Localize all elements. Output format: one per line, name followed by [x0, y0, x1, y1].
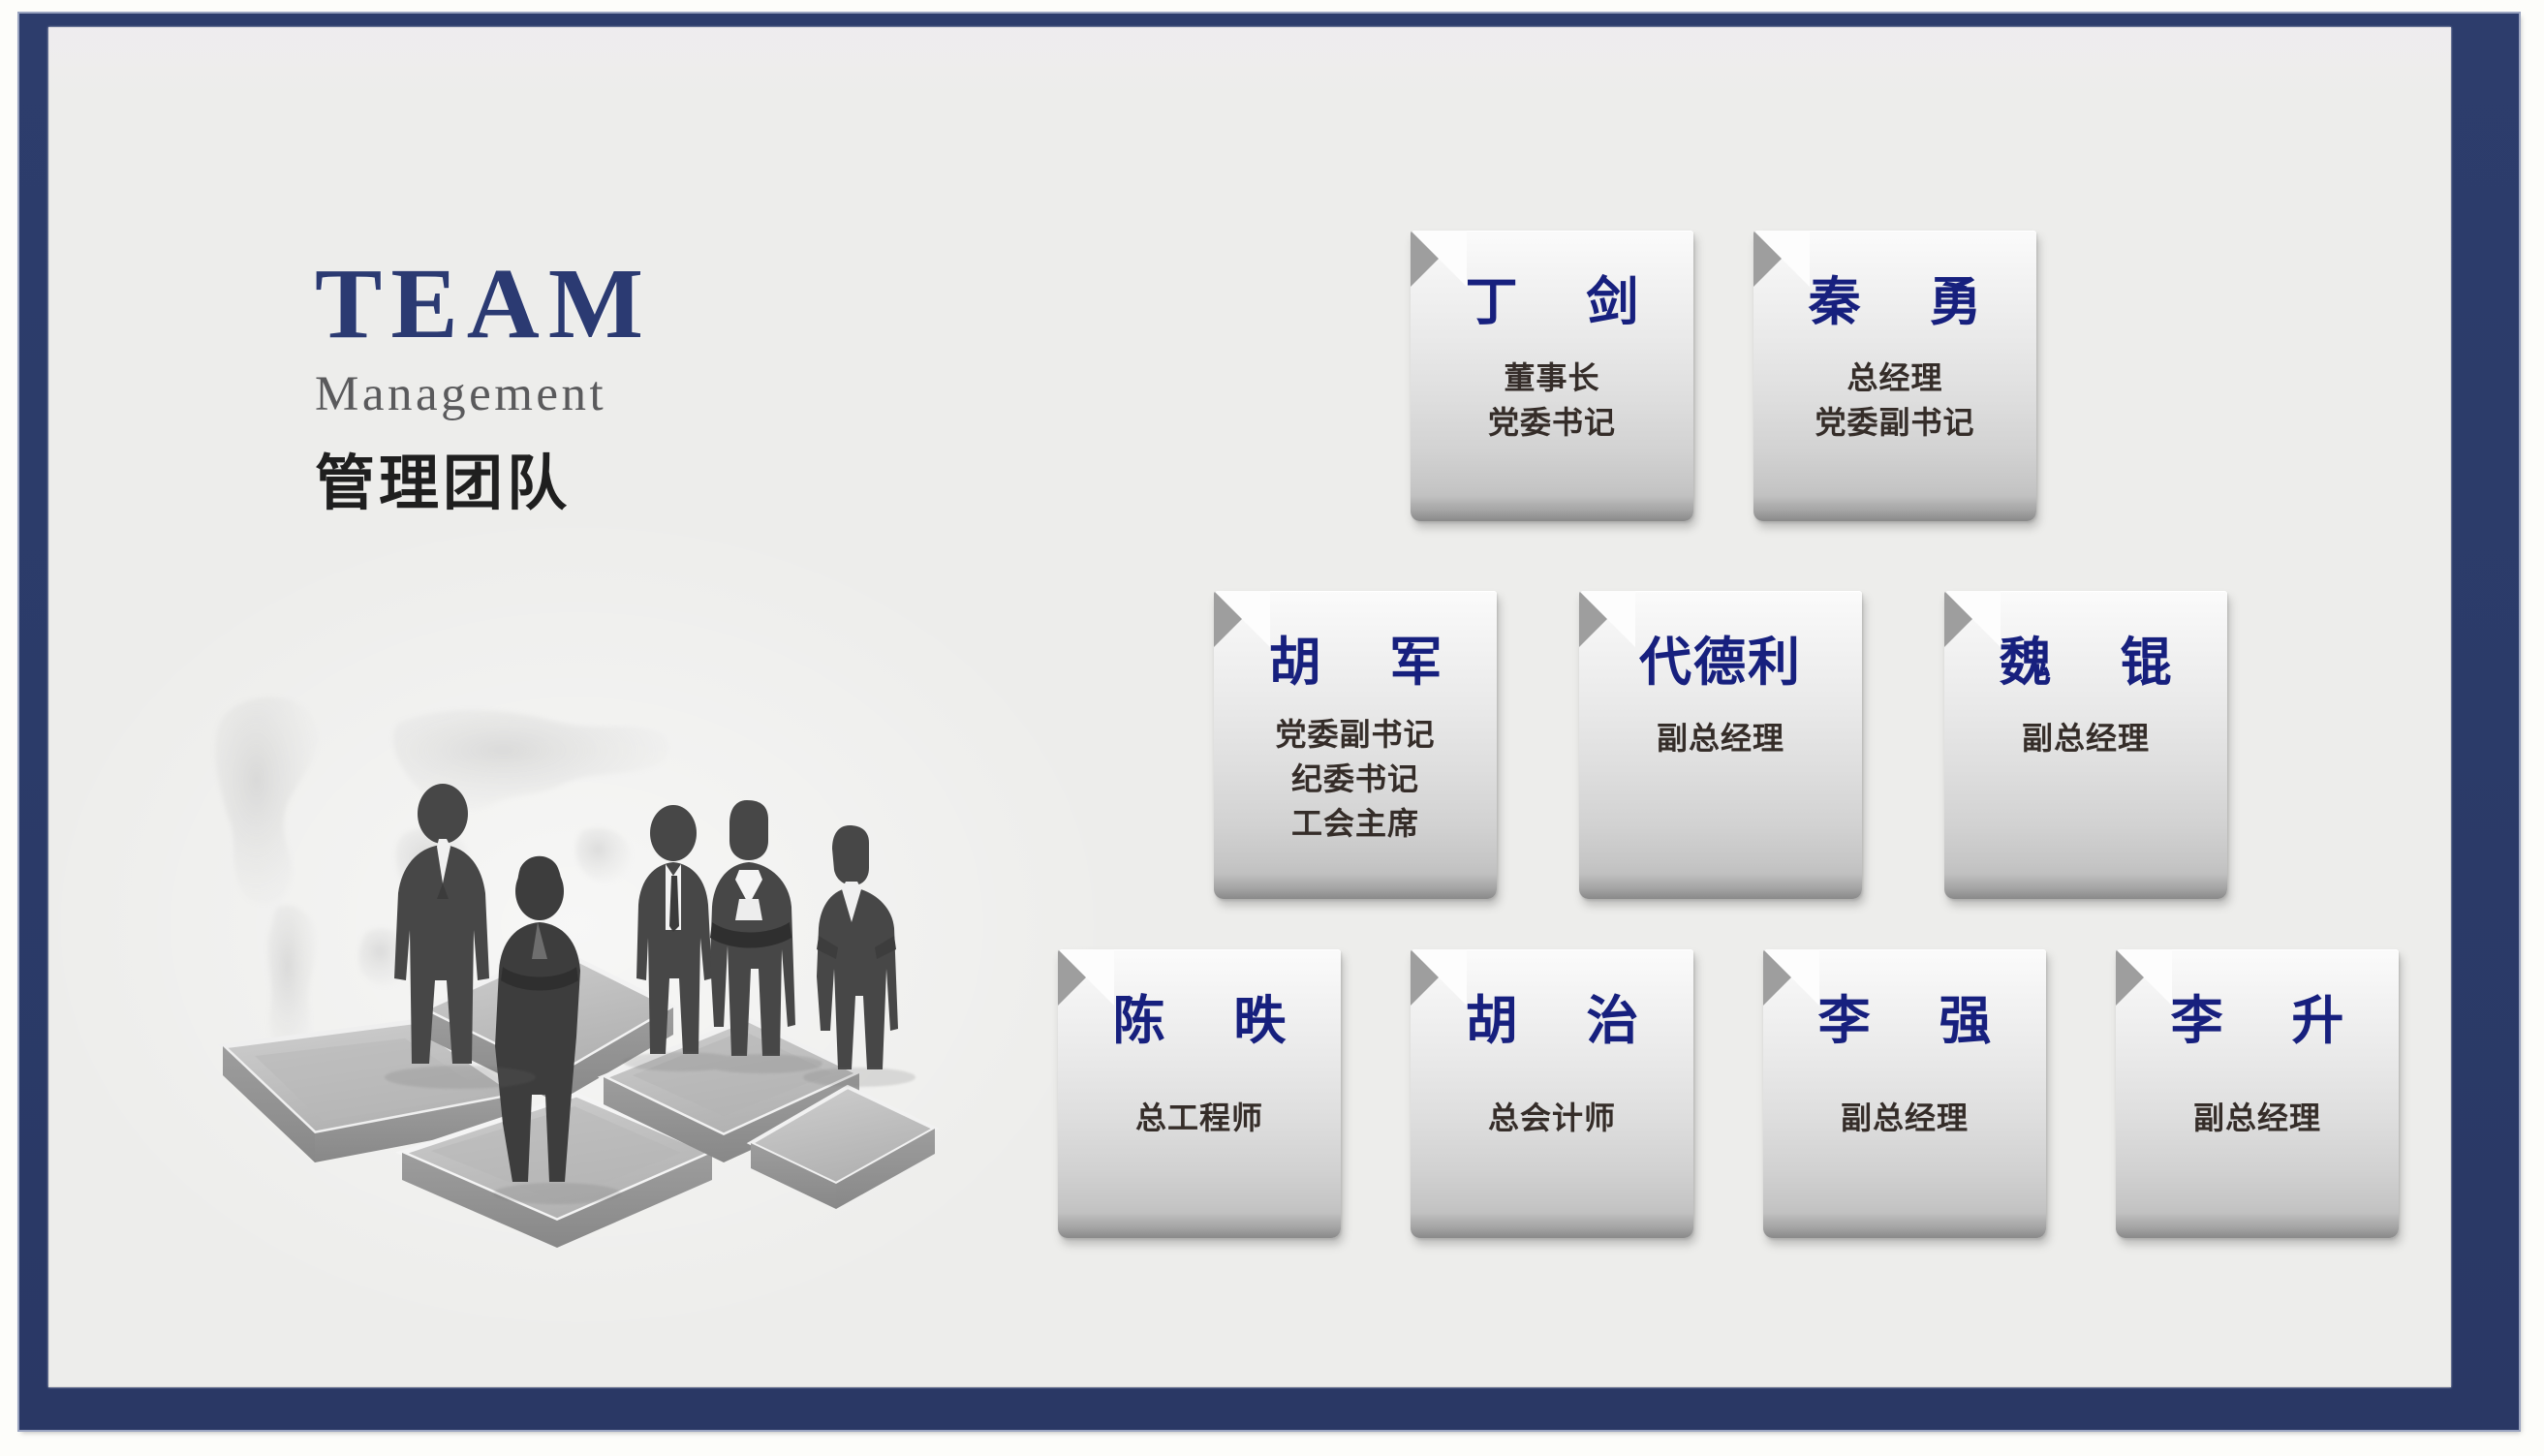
person-title-line: 党委副书记 [1753, 400, 2036, 445]
person-card-dai-deli[interactable]: 代德利 副总经理 [1579, 591, 1862, 899]
person-title-line: 副总经理 [2116, 1096, 2399, 1140]
person-card-li-qiang[interactable]: 李 强 副总经理 [1763, 949, 2046, 1238]
person-card-chen-yi[interactable]: 陈 昳 总工程师 [1058, 949, 1341, 1238]
person-name: 魏 锟 [1944, 635, 2227, 691]
person-titles: 总经理 党委副书记 [1753, 356, 2036, 446]
cards-row-2: 胡 军 党委副书记 纪委书记 工会主席 代德利 副总经理 [1214, 591, 2227, 899]
person-title-line: 副总经理 [1579, 716, 1862, 760]
person-title-line: 副总经理 [1763, 1096, 2046, 1140]
person-name: 丁 剑 [1411, 275, 1693, 330]
cards-row-1: 丁 剑 董事长 党委书记 秦 勇 总经理 党委副书记 [1411, 231, 2036, 521]
person-titles: 总会计师 [1411, 1096, 1693, 1140]
person-card-qin-yong[interactable]: 秦 勇 总经理 党委副书记 [1753, 231, 2036, 521]
management-cards-grid: 丁 剑 董事长 党委书记 秦 勇 总经理 党委副书记 [0, 0, 2544, 1456]
person-name: 胡 治 [1411, 994, 1693, 1049]
person-name: 胡 军 [1214, 635, 1497, 691]
person-name: 秦 勇 [1753, 275, 2036, 330]
person-card-ding-jian[interactable]: 丁 剑 董事长 党委书记 [1411, 231, 1693, 521]
cards-row-3: 陈 昳 总工程师 胡 治 总会计师 李 强 [1058, 949, 2399, 1238]
person-titles: 副总经理 [2116, 1096, 2399, 1140]
person-card-hu-zhi[interactable]: 胡 治 总会计师 [1411, 949, 1693, 1238]
person-title-line: 总经理 [1753, 356, 2036, 400]
person-title-line: 副总经理 [1944, 716, 2227, 760]
person-name: 李 升 [2116, 994, 2399, 1049]
person-titles: 副总经理 [1944, 716, 2227, 760]
person-card-li-sheng[interactable]: 李 升 副总经理 [2116, 949, 2399, 1238]
person-titles: 总工程师 [1058, 1096, 1341, 1140]
person-name: 李 强 [1763, 994, 2046, 1049]
person-title-line: 纪委书记 [1214, 757, 1497, 801]
slide-root: TEAM Management 管理团队 [0, 0, 2544, 1456]
person-titles: 副总经理 [1579, 716, 1862, 760]
person-card-wei-kun[interactable]: 魏 锟 副总经理 [1944, 591, 2227, 899]
person-title-line: 总会计师 [1411, 1096, 1693, 1140]
person-title-line: 董事长 [1411, 356, 1693, 400]
person-titles: 董事长 党委书记 [1411, 356, 1693, 446]
person-title-line: 党委书记 [1411, 400, 1693, 445]
person-title-line: 总工程师 [1058, 1096, 1341, 1140]
person-titles: 副总经理 [1763, 1096, 2046, 1140]
person-name: 陈 昳 [1058, 994, 1341, 1049]
person-name: 代德利 [1579, 635, 1862, 691]
person-title-line: 党委副书记 [1214, 712, 1497, 757]
person-titles: 党委副书记 纪委书记 工会主席 [1214, 712, 1497, 847]
person-title-line: 工会主席 [1214, 801, 1497, 846]
person-card-hu-jun[interactable]: 胡 军 党委副书记 纪委书记 工会主席 [1214, 591, 1497, 899]
